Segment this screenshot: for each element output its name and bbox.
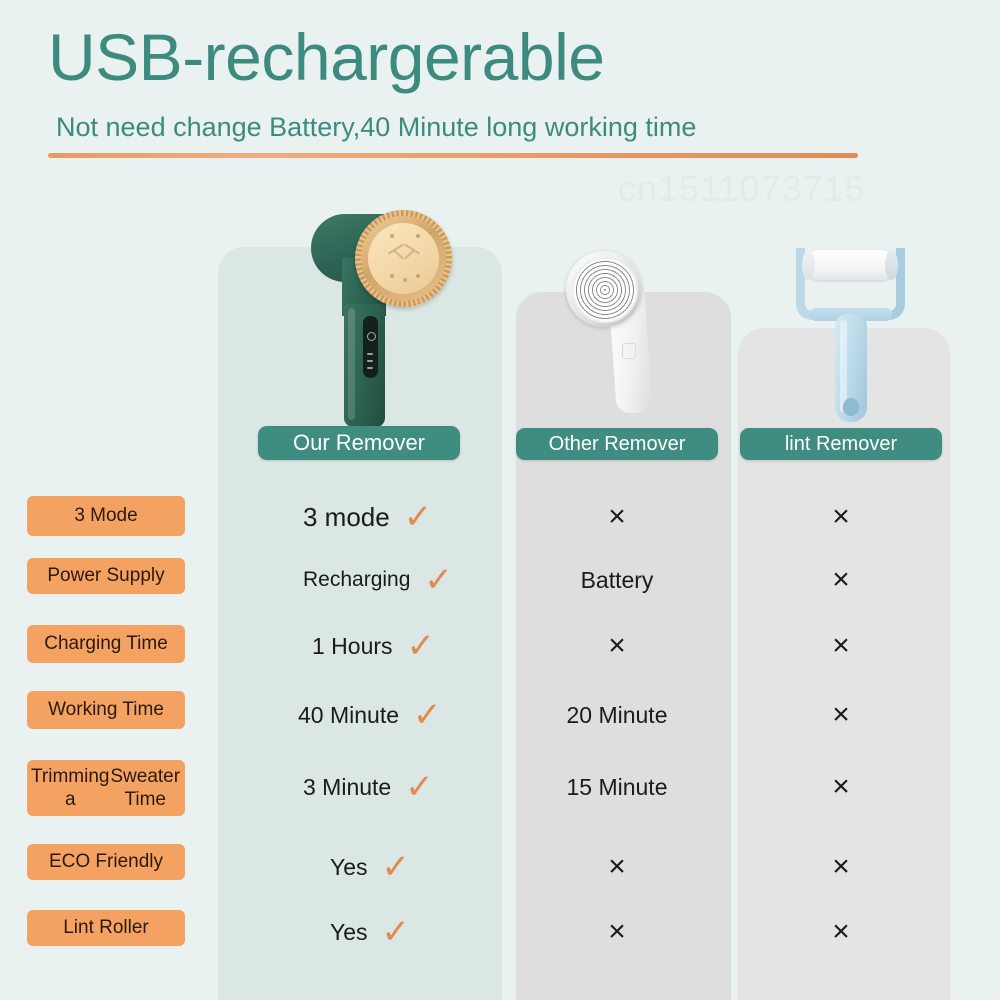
cell-value: 20 Minute	[566, 702, 667, 729]
cell-other-remover: 20 Minute	[516, 698, 718, 732]
header-banner: USB-rechargerable Not need change Batter…	[0, 0, 1000, 170]
check-icon: ✓	[424, 563, 453, 597]
cross-icon: ×	[832, 631, 850, 661]
feature-label: Working Time	[27, 691, 185, 729]
check-icon: ✓	[405, 770, 434, 804]
cell-value: Recharging	[303, 568, 410, 592]
cell-other-remover: 15 Minute	[516, 770, 718, 804]
cell-our-remover: 3 Minute✓	[303, 770, 434, 804]
feature-label: Lint Roller	[27, 910, 185, 946]
cell-lint-remover: ×	[740, 698, 942, 732]
check-icon: ✓	[413, 698, 442, 732]
cell-value: 15 Minute	[566, 774, 667, 801]
cross-icon: ×	[832, 772, 850, 802]
cell-our-remover: 40 Minute✓	[298, 698, 442, 732]
cell-lint-remover: ×	[740, 500, 942, 534]
check-icon: ✓	[382, 915, 411, 949]
check-icon: ✓	[407, 629, 436, 663]
cell-our-remover: Yes✓	[330, 915, 410, 949]
feature-label: Trimming aSweater Time	[27, 760, 185, 816]
column-header-lint-remover[interactable]: lint Remover	[740, 428, 942, 460]
cross-icon: ×	[832, 917, 850, 947]
watermark-text: cn1511073715	[618, 168, 866, 210]
cross-icon: ×	[832, 852, 850, 882]
white-fabric-shaver-image	[556, 251, 684, 426]
cell-our-remover: Recharging✓	[303, 563, 453, 597]
feature-label: Power Supply	[27, 558, 185, 594]
feature-label: 3 Mode	[27, 496, 185, 536]
cell-our-remover: 3 mode✓	[303, 500, 432, 534]
cell-lint-remover: ×	[740, 770, 942, 804]
cell-other-remover: ×	[516, 629, 718, 663]
cell-value: 40 Minute	[298, 702, 399, 729]
cell-value: Battery	[581, 567, 654, 594]
blue-lint-roller-image	[790, 244, 912, 426]
cell-lint-remover: ×	[740, 850, 942, 884]
feature-label: ECO Friendly	[27, 844, 185, 880]
green-fabric-shaver-image	[289, 208, 454, 433]
cell-other-remover: ×	[516, 500, 718, 534]
cell-our-remover: Yes✓	[330, 850, 410, 884]
cell-lint-remover: ×	[740, 915, 942, 949]
cell-value: 3 mode	[303, 502, 390, 533]
cell-lint-remover: ×	[740, 563, 942, 597]
cross-icon: ×	[608, 631, 626, 661]
cell-value: Yes	[330, 919, 368, 946]
cross-icon: ×	[832, 502, 850, 532]
check-icon: ✓	[382, 850, 411, 884]
cell-other-remover: Battery	[516, 563, 718, 597]
column-header-other-remover[interactable]: Other Remover	[516, 428, 718, 460]
check-icon: ✓	[404, 500, 433, 534]
cell-value: Yes	[330, 854, 368, 881]
cell-lint-remover: ×	[740, 629, 942, 663]
cell-value: 3 Minute	[303, 774, 391, 801]
cell-other-remover: ×	[516, 915, 718, 949]
cell-other-remover: ×	[516, 850, 718, 884]
title-divider	[48, 153, 858, 158]
page-subtitle: Not need change Battery,40 Minute long w…	[56, 110, 696, 144]
cross-icon: ×	[608, 917, 626, 947]
cross-icon: ×	[832, 700, 850, 730]
cross-icon: ×	[832, 565, 850, 595]
feature-label: Charging Time	[27, 625, 185, 663]
page-title: USB-rechargerable	[48, 18, 604, 96]
cross-icon: ×	[608, 502, 626, 532]
cell-our-remover: 1 Hours✓	[312, 629, 435, 663]
cross-icon: ×	[608, 852, 626, 882]
cell-value: 1 Hours	[312, 633, 393, 660]
column-header-our-remover[interactable]: Our Remover	[258, 426, 460, 460]
